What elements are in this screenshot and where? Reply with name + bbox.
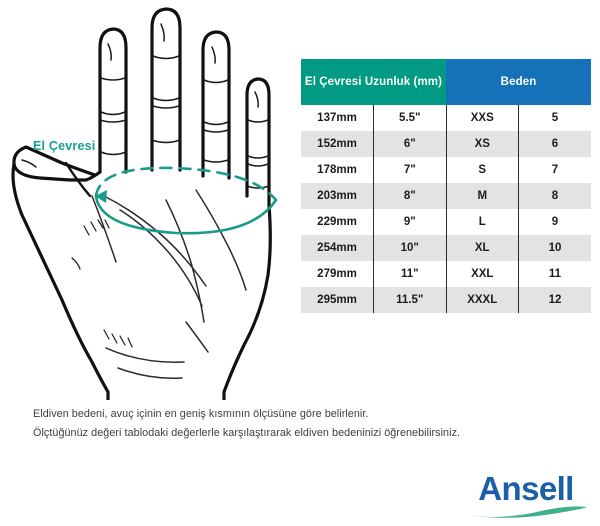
cell-size-number: 12 bbox=[519, 287, 592, 313]
table-row: 295mm 11.5" XXXL 12 bbox=[301, 287, 591, 313]
cell-size-number: 10 bbox=[519, 235, 592, 261]
table-row: 152mm 6" XS 6 bbox=[301, 131, 591, 157]
measure-line-solid-arc bbox=[96, 196, 276, 233]
cell-size-alpha: M bbox=[446, 183, 519, 209]
cell-circumference-inch: 10" bbox=[374, 235, 447, 261]
cell-size-alpha: XXS bbox=[446, 105, 519, 131]
cell-circumference-inch: 8" bbox=[374, 183, 447, 209]
cell-size-number: 6 bbox=[519, 131, 592, 157]
table-row: 203mm 8" M 8 bbox=[301, 183, 591, 209]
table-row: 279mm 11" XXL 11 bbox=[301, 261, 591, 287]
cell-size-alpha: XL bbox=[446, 235, 519, 261]
cell-size-alpha: L bbox=[446, 209, 519, 235]
measure-line-dashed-arc bbox=[96, 168, 276, 200]
palm-crease-lines bbox=[92, 190, 246, 378]
cell-circumference-mm: 279mm bbox=[301, 261, 374, 287]
instructions-line-2: Ölçtüğünüz değeri tablodaki değerlerle k… bbox=[33, 424, 578, 443]
table-body: 137mm 5.5" XXS 5 152mm 6" XS 6 178mm 7" … bbox=[301, 105, 591, 313]
table-header-row: El Çevresi Uzunluk (mm) Beden bbox=[301, 59, 591, 105]
cell-size-number: 8 bbox=[519, 183, 592, 209]
cell-circumference-mm: 229mm bbox=[301, 209, 374, 235]
ansell-logo: Ansell bbox=[463, 470, 589, 518]
cell-circumference-mm: 203mm bbox=[301, 183, 374, 209]
cell-size-alpha: S bbox=[446, 157, 519, 183]
table-row: 137mm 5.5" XXS 5 bbox=[301, 105, 591, 131]
hand-illustration bbox=[0, 0, 300, 400]
cell-circumference-mm: 137mm bbox=[301, 105, 374, 131]
cell-circumference-inch: 6" bbox=[374, 131, 447, 157]
cell-circumference-inch: 11.5" bbox=[374, 287, 447, 313]
column-header-size: Beden bbox=[446, 59, 591, 105]
table-row: 229mm 9" L 9 bbox=[301, 209, 591, 235]
table-row: 254mm 10" XL 10 bbox=[301, 235, 591, 261]
cell-circumference-mm: 152mm bbox=[301, 131, 374, 157]
cell-circumference-inch: 9" bbox=[374, 209, 447, 235]
ansell-wordmark: Ansell bbox=[463, 470, 589, 508]
instructions-line-1: Eldiven bedeni, avuç içinin en geniş kıs… bbox=[33, 405, 578, 424]
glove-size-chart-page: El Çevresi El Çevresi Uzunluk (mm) Beden… bbox=[0, 0, 600, 526]
cell-circumference-inch: 7" bbox=[374, 157, 447, 183]
glove-size-table: El Çevresi Uzunluk (mm) Beden 137mm 5.5"… bbox=[301, 59, 591, 313]
ansell-swoosh-icon bbox=[463, 504, 589, 518]
cell-size-number: 7 bbox=[519, 157, 592, 183]
cell-size-number: 9 bbox=[519, 209, 592, 235]
hand-circumference-label: El Çevresi bbox=[33, 139, 95, 153]
cell-size-alpha: XXXL bbox=[446, 287, 519, 313]
cell-size-number: 11 bbox=[519, 261, 592, 287]
palm-texture-strokes bbox=[72, 220, 132, 347]
cell-circumference-mm: 178mm bbox=[301, 157, 374, 183]
table-header: El Çevresi Uzunluk (mm) Beden bbox=[301, 59, 591, 105]
hand-outline bbox=[13, 9, 270, 400]
cell-size-alpha: XS bbox=[446, 131, 519, 157]
instructions-text: Eldiven bedeni, avuç içinin en geniş kıs… bbox=[33, 405, 578, 443]
hand-circumference-measure-line bbox=[96, 168, 276, 233]
cell-circumference-mm: 295mm bbox=[301, 287, 374, 313]
cell-circumference-mm: 254mm bbox=[301, 235, 374, 261]
cell-circumference-inch: 11" bbox=[374, 261, 447, 287]
cell-size-number: 5 bbox=[519, 105, 592, 131]
cell-circumference-inch: 5.5" bbox=[374, 105, 447, 131]
cell-size-alpha: XXL bbox=[446, 261, 519, 287]
table-row: 178mm 7" S 7 bbox=[301, 157, 591, 183]
column-header-hand-circumference: El Çevresi Uzunluk (mm) bbox=[301, 59, 446, 105]
